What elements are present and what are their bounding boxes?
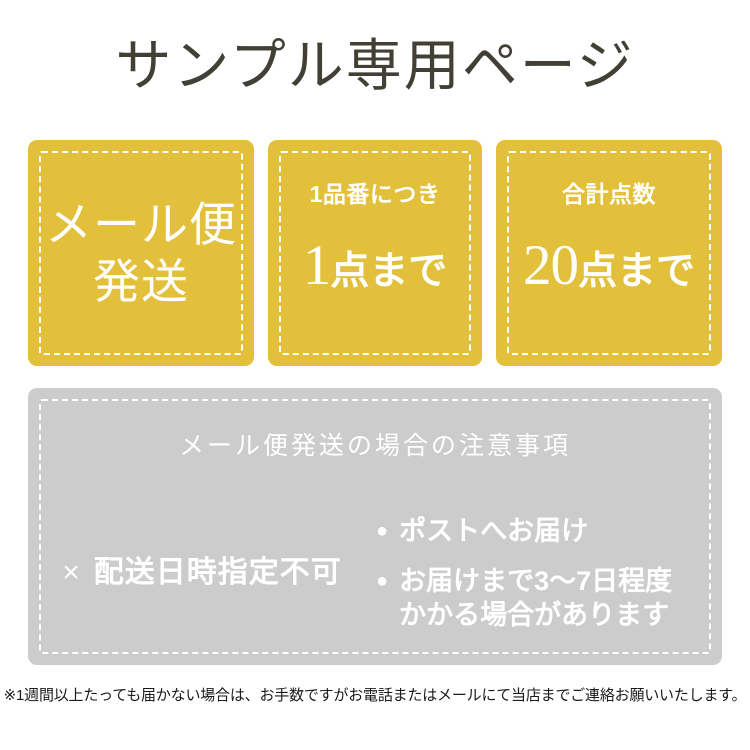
- card-shipping-method-line2: 発送: [93, 253, 189, 310]
- card-total-limit-caption: 合計点数: [562, 180, 656, 208]
- card-per-item-limit-unit: 点まで: [330, 242, 447, 302]
- footnote: ※1週間以上たっても届かない場合は、お手数ですがお電話またはメールにて当店までご…: [0, 686, 750, 706]
- bullet-dot-icon: ●: [376, 514, 388, 548]
- notice-bullet-list: ● ポストへお届け ● お届けまで3〜7日程度 かかる場合があります: [376, 514, 722, 632]
- notice-panel: メール便発送の場合の注意事項 × 配送日時指定不可 ● ポストへお届け ● お届…: [28, 388, 722, 665]
- page-title: サンプル専用ページ: [0, 32, 750, 100]
- card-total-limit-value: 20 点まで: [523, 236, 695, 302]
- card-shipping-method: メール便 発送: [28, 140, 254, 366]
- card-per-item-limit-caption: 1品番につき: [310, 180, 441, 208]
- bullet-dot-icon: ●: [376, 564, 388, 598]
- list-item: ● ポストへお届け: [376, 514, 722, 548]
- card-per-item-limit: 1品番につき 1 点まで: [268, 140, 482, 366]
- card-per-item-limit-value: 1 点まで: [303, 236, 448, 302]
- card-per-item-limit-number: 1: [303, 236, 331, 296]
- list-item-line: お届けまで3〜7日程度: [399, 564, 672, 598]
- card-total-limit-unit: 点まで: [578, 242, 695, 302]
- notice-heading: メール便発送の場合の注意事項: [28, 430, 722, 462]
- cross-icon: ×: [62, 556, 80, 590]
- notice-restriction: × 配送日時指定不可: [28, 556, 376, 590]
- notice-body: × 配送日時指定不可 ● ポストへお届け ● お届けまで3〜7日程度 かかる場合…: [28, 498, 722, 648]
- card-shipping-method-content: メール便 発送: [28, 140, 254, 366]
- list-item-line: ポストへお届け: [399, 514, 588, 548]
- card-shipping-method-line1: メール便: [45, 196, 237, 253]
- list-item-line: かかる場合があります: [399, 598, 672, 632]
- card-total-limit-number: 20: [523, 236, 578, 296]
- list-item: ● お届けまで3〜7日程度 かかる場合があります: [376, 564, 722, 632]
- list-item-text: お届けまで3〜7日程度 かかる場合があります: [399, 564, 672, 632]
- notice-restriction-label: 配送日時指定不可: [94, 556, 342, 590]
- info-cards-row: メール便 発送 1品番につき 1 点まで 合計点数 20 点まで: [28, 140, 722, 366]
- card-total-limit: 合計点数 20 点まで: [496, 140, 722, 366]
- list-item-text: ポストへお届け: [399, 514, 588, 548]
